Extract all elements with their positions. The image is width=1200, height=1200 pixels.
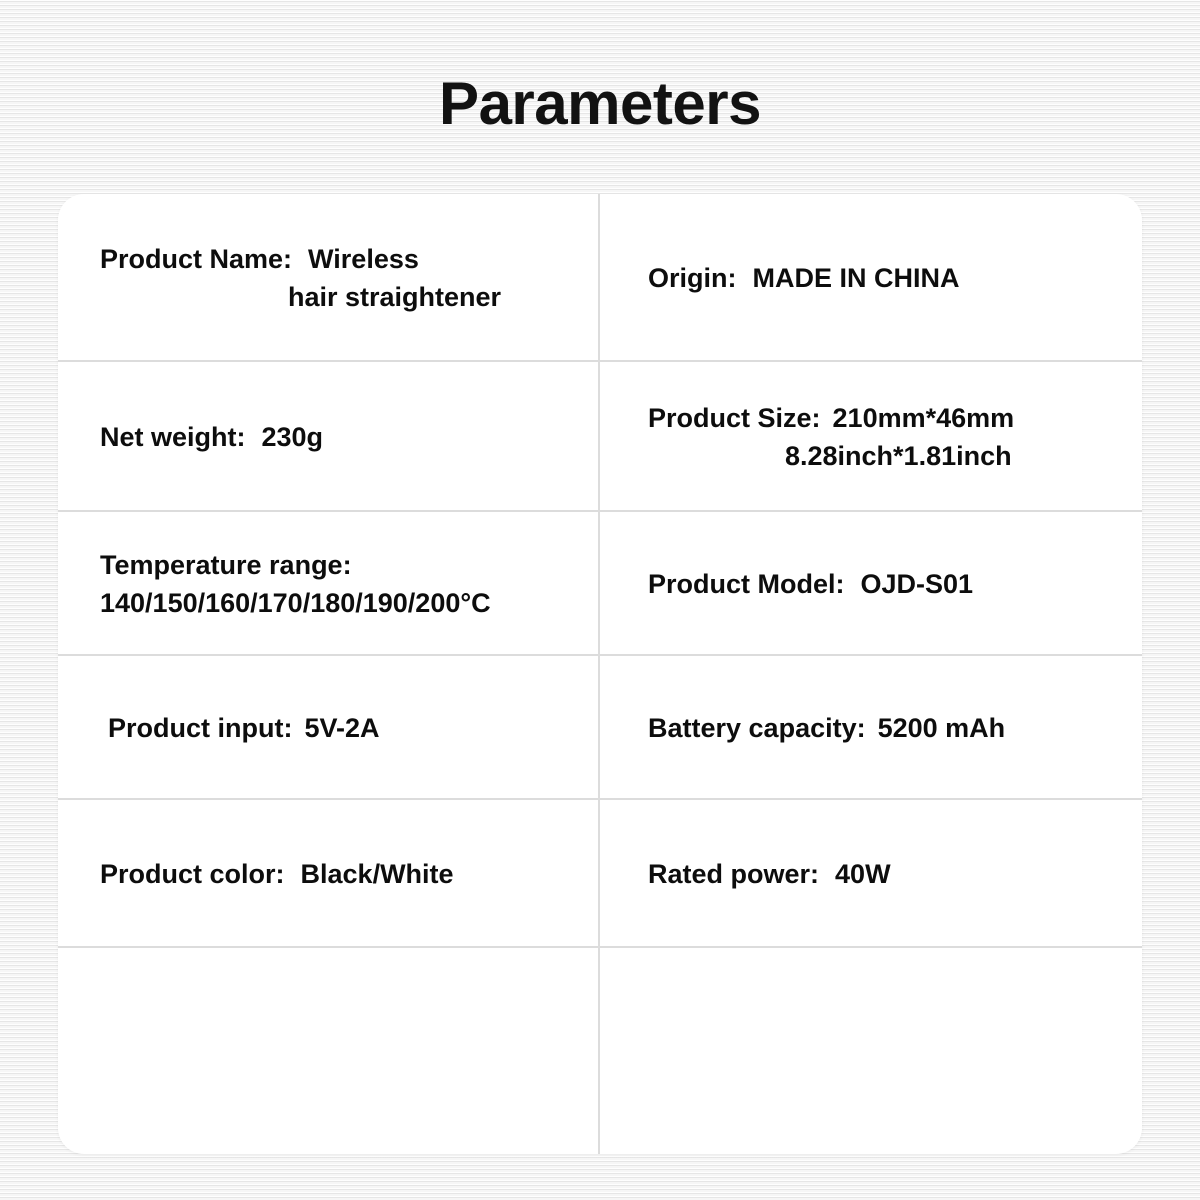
spec-line: Product color:Black/White <box>58 855 600 893</box>
spec-line: Product input:5V-2A <box>58 709 600 747</box>
spec-cell-origin: Origin:MADE IN CHINA <box>600 194 1142 362</box>
specifications-card: Product Name:Wireless hair straightener … <box>58 194 1142 1154</box>
spec-cell-product-color: Product color:Black/White <box>58 800 600 948</box>
spec-cell-product-name: Product Name:Wireless hair straightener <box>58 194 600 362</box>
spec-cell-product-input: Product input:5V-2A <box>58 656 600 800</box>
spec-value-line2: hair straightener <box>288 282 501 312</box>
spec-cell-empty-left <box>58 948 600 1154</box>
spec-label: Battery capacity: <box>648 713 866 743</box>
spec-cell-empty-right <box>600 948 1142 1154</box>
spec-line: Rated power:40W <box>600 855 1142 893</box>
spec-label: Net weight: <box>100 422 246 452</box>
spec-value: 40W <box>835 859 891 889</box>
spec-value-line2: 8.28inch*1.81inch <box>785 441 1012 471</box>
parameters-page: Parameters Product Name:Wireless hair st… <box>0 0 1200 1200</box>
spec-line: Product Size:210mm*46mm <box>600 399 1142 437</box>
spec-value: Wireless <box>308 244 419 274</box>
spec-label: Product Name: <box>100 244 292 274</box>
spec-value: 5200 mAh <box>878 713 1006 743</box>
spec-cell-net-weight: Net weight:230g <box>58 362 600 512</box>
spec-line: Temperature range: <box>58 546 600 584</box>
spec-label: Product input: <box>108 713 292 743</box>
spec-label: Product Model: <box>648 569 845 599</box>
spec-cell-product-size: Product Size:210mm*46mm 8.28inch*1.81inc… <box>600 362 1142 512</box>
spec-line: Origin:MADE IN CHINA <box>600 259 1142 297</box>
spec-cell-product-model: Product Model:OJD-S01 <box>600 512 1142 656</box>
spec-label: Product Size: <box>648 403 821 433</box>
spec-value: 230g <box>262 422 324 452</box>
spec-label: Temperature range: <box>100 550 352 580</box>
spec-value: 140/150/160/170/180/190/200°C <box>100 588 491 618</box>
spec-value-continuation: hair straightener <box>58 278 600 316</box>
spec-line: Product Model:OJD-S01 <box>600 565 1142 603</box>
spec-cell-battery-capacity: Battery capacity:5200 mAh <box>600 656 1142 800</box>
spec-label: Origin: <box>648 263 737 293</box>
spec-value: OJD-S01 <box>861 569 974 599</box>
spec-value: MADE IN CHINA <box>753 263 960 293</box>
page-title: Parameters <box>0 74 1200 134</box>
spec-value: 210mm*46mm <box>833 403 1015 433</box>
spec-line: Product Name:Wireless <box>58 240 600 278</box>
spec-line: Battery capacity:5200 mAh <box>600 709 1142 747</box>
spec-value-continuation: 8.28inch*1.81inch <box>600 437 1142 475</box>
spec-label: Rated power: <box>648 859 819 889</box>
spec-cell-temperature-range: Temperature range: 140/150/160/170/180/1… <box>58 512 600 656</box>
spec-value-continuation: 140/150/160/170/180/190/200°C <box>58 584 600 622</box>
spec-label: Product color: <box>100 859 285 889</box>
spec-value: 5V-2A <box>304 713 379 743</box>
specifications-grid: Product Name:Wireless hair straightener … <box>58 194 1142 1154</box>
spec-value: Black/White <box>301 859 454 889</box>
spec-cell-rated-power: Rated power:40W <box>600 800 1142 948</box>
spec-line: Net weight:230g <box>58 418 600 456</box>
